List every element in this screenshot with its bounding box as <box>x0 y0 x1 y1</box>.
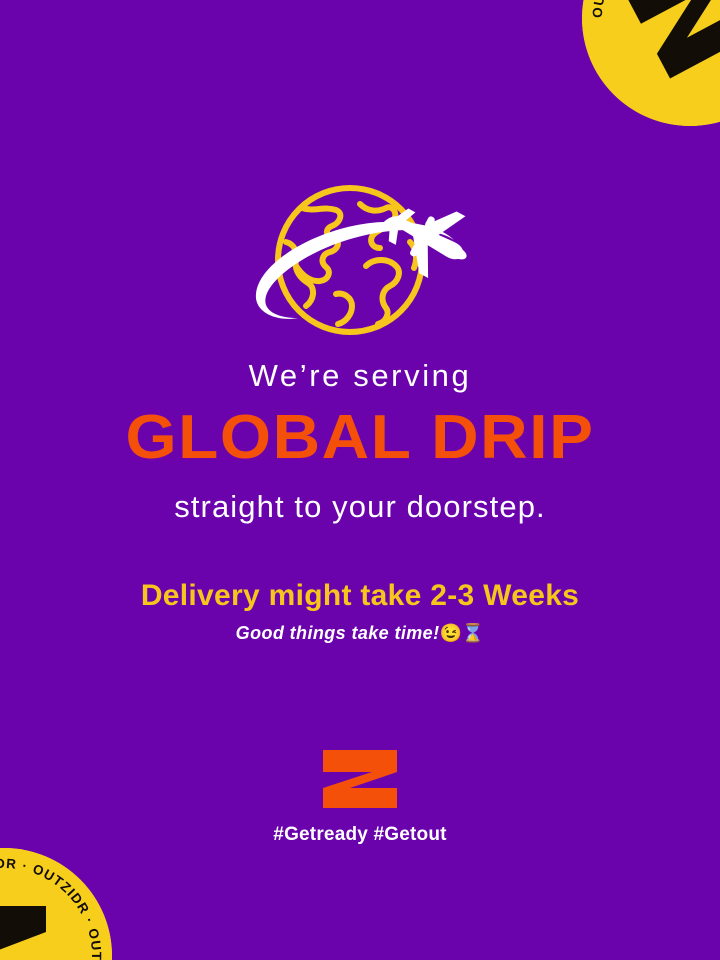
tagline-emoji: 😉⌛ <box>439 623 484 643</box>
delivery-notice-text: Delivery might take 2-3 Weeks <box>0 579 720 612</box>
brand-badge-bottom-left: OUTZIDR · OUTZIDR · OUTZIDR · OUTZIDR · … <box>0 848 112 960</box>
eyebrow-text: We’re serving <box>0 360 720 393</box>
poster-copy: We’re serving GLOBAL DRIP straight to yo… <box>0 360 720 644</box>
globe-with-airplane-icon <box>240 182 480 342</box>
promo-poster: We’re serving GLOBAL DRIP straight to yo… <box>0 0 720 960</box>
tagline-text: Good things take time!😉⌛ <box>0 624 720 644</box>
badge-circle <box>582 0 720 126</box>
footer-brand: #Getready #Getout <box>0 748 720 846</box>
z-monogram-logo <box>320 748 400 810</box>
headline-text: GLOBAL DRIP <box>0 407 720 469</box>
hashtags-text: #Getready #Getout <box>0 824 720 846</box>
brand-badge-top-right: OUTZIDR · OUTZIDR · OUTZIDR · OUTZIDR · <box>582 0 720 126</box>
subline-text: straight to your doorstep. <box>0 491 720 524</box>
tagline-label: Good things take time! <box>236 623 440 643</box>
